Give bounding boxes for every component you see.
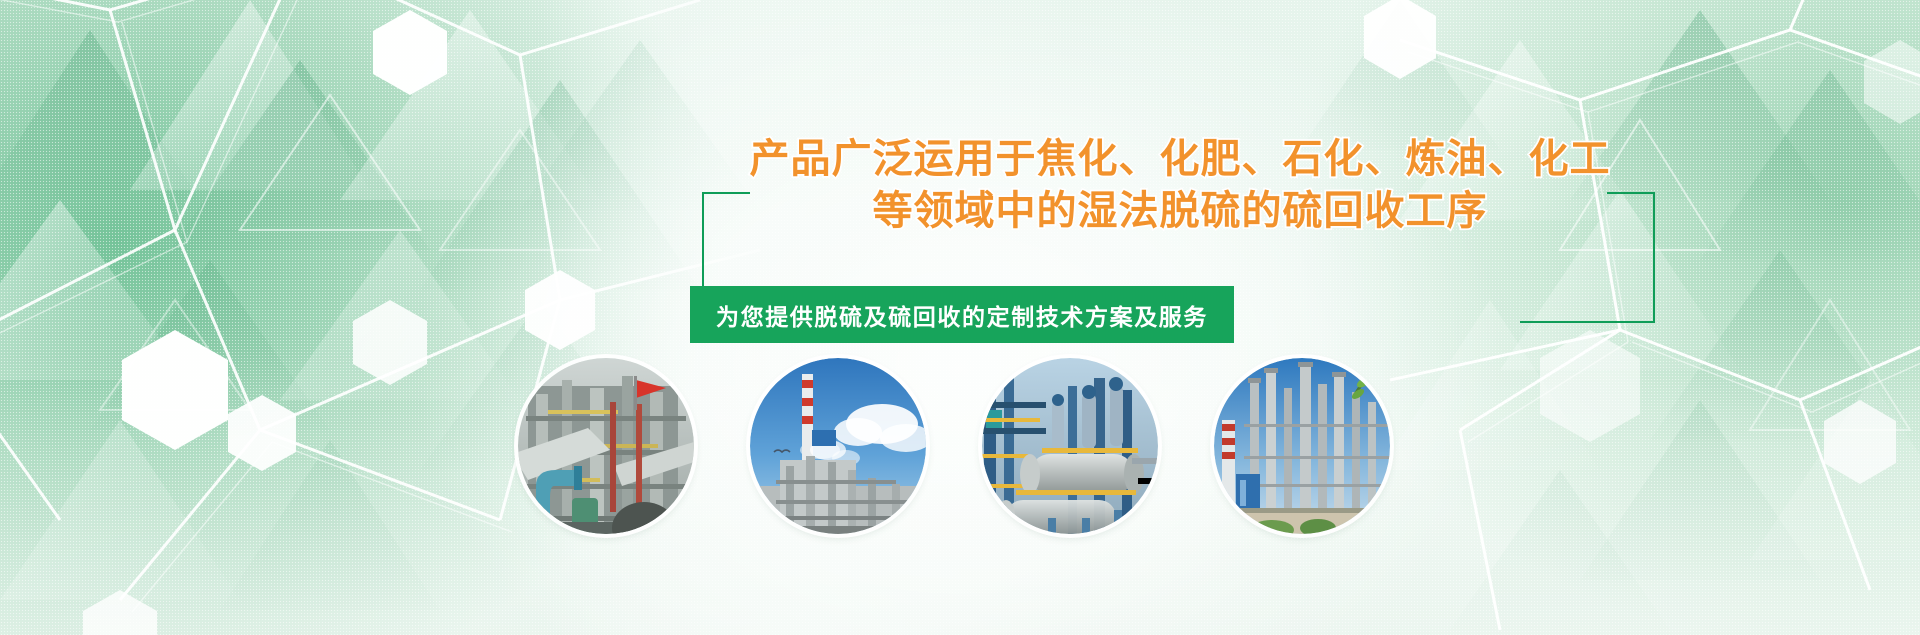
- subtitle-banner: 为您提供脱硫及硫回收的定制技术方案及服务: [690, 286, 1234, 343]
- bracket-bottom-right: [1520, 321, 1655, 323]
- headline-line-2: 等领域中的湿法脱硫的硫回收工序: [590, 185, 1770, 237]
- gallery-photo-2[interactable]: 化工厂烟囱与蓝天照片: [750, 358, 926, 534]
- gallery-photo-3-alt: 脱硫储罐装置平台照片: [982, 358, 983, 359]
- hexagon-node: [1864, 40, 1920, 124]
- hero-banner: 产品广泛运用于焦化、化肥、石化、炼油、化工 等领域中的湿法脱硫的硫回收工序 为您…: [0, 0, 1920, 635]
- gallery-photo-1-alt: 炼化装置管道现场照片: [518, 358, 519, 359]
- gallery-photo-2-alt: 化工厂烟囱与蓝天照片: [750, 358, 751, 359]
- gallery-photo-1[interactable]: 炼化装置管道现场照片: [518, 358, 694, 534]
- gallery-photo-4[interactable]: 炼油厂精馏塔群照片: [1214, 358, 1390, 534]
- gallery-photo-3[interactable]: 脱硫储罐装置平台照片: [982, 358, 1158, 534]
- subtitle-text: 为您提供脱硫及硫回收的定制技术方案及服务: [716, 298, 1208, 332]
- photo-gallery: 炼化装置管道现场照片: [518, 358, 1402, 548]
- gallery-photo-4-alt: 炼油厂精馏塔群照片: [1214, 358, 1215, 359]
- headline-text: 产品广泛运用于焦化、化肥、石化、炼油、化工 等领域中的湿法脱硫的硫回收工序: [590, 133, 1770, 237]
- headline-line-1: 产品广泛运用于焦化、化肥、石化、炼油、化工: [590, 133, 1770, 185]
